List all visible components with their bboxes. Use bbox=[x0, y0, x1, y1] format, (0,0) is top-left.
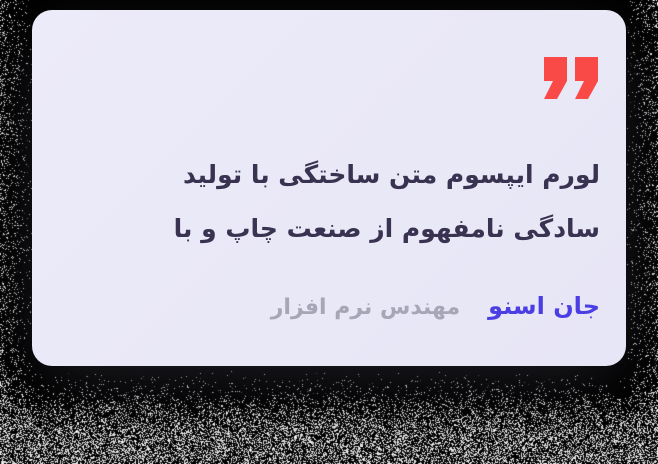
author-role: مهندس نرم افزار bbox=[271, 291, 460, 325]
author-name: جان اسنو bbox=[488, 289, 600, 323]
quote-text: لورم ایپسوم متن ساختگی با تولید سادگی نا… bbox=[130, 148, 600, 256]
testimonial-card: لورم ایپسوم متن ساختگی با تولید سادگی نا… bbox=[32, 10, 626, 366]
attribution-row: جان اسنو مهندس نرم افزار bbox=[130, 289, 600, 325]
quote-line-2: سادگی نامفهوم از صنعت چاپ و با bbox=[130, 202, 600, 256]
double-quote-icon bbox=[544, 57, 600, 99]
quote-line-1: لورم ایپسوم متن ساختگی با تولید bbox=[130, 148, 600, 202]
